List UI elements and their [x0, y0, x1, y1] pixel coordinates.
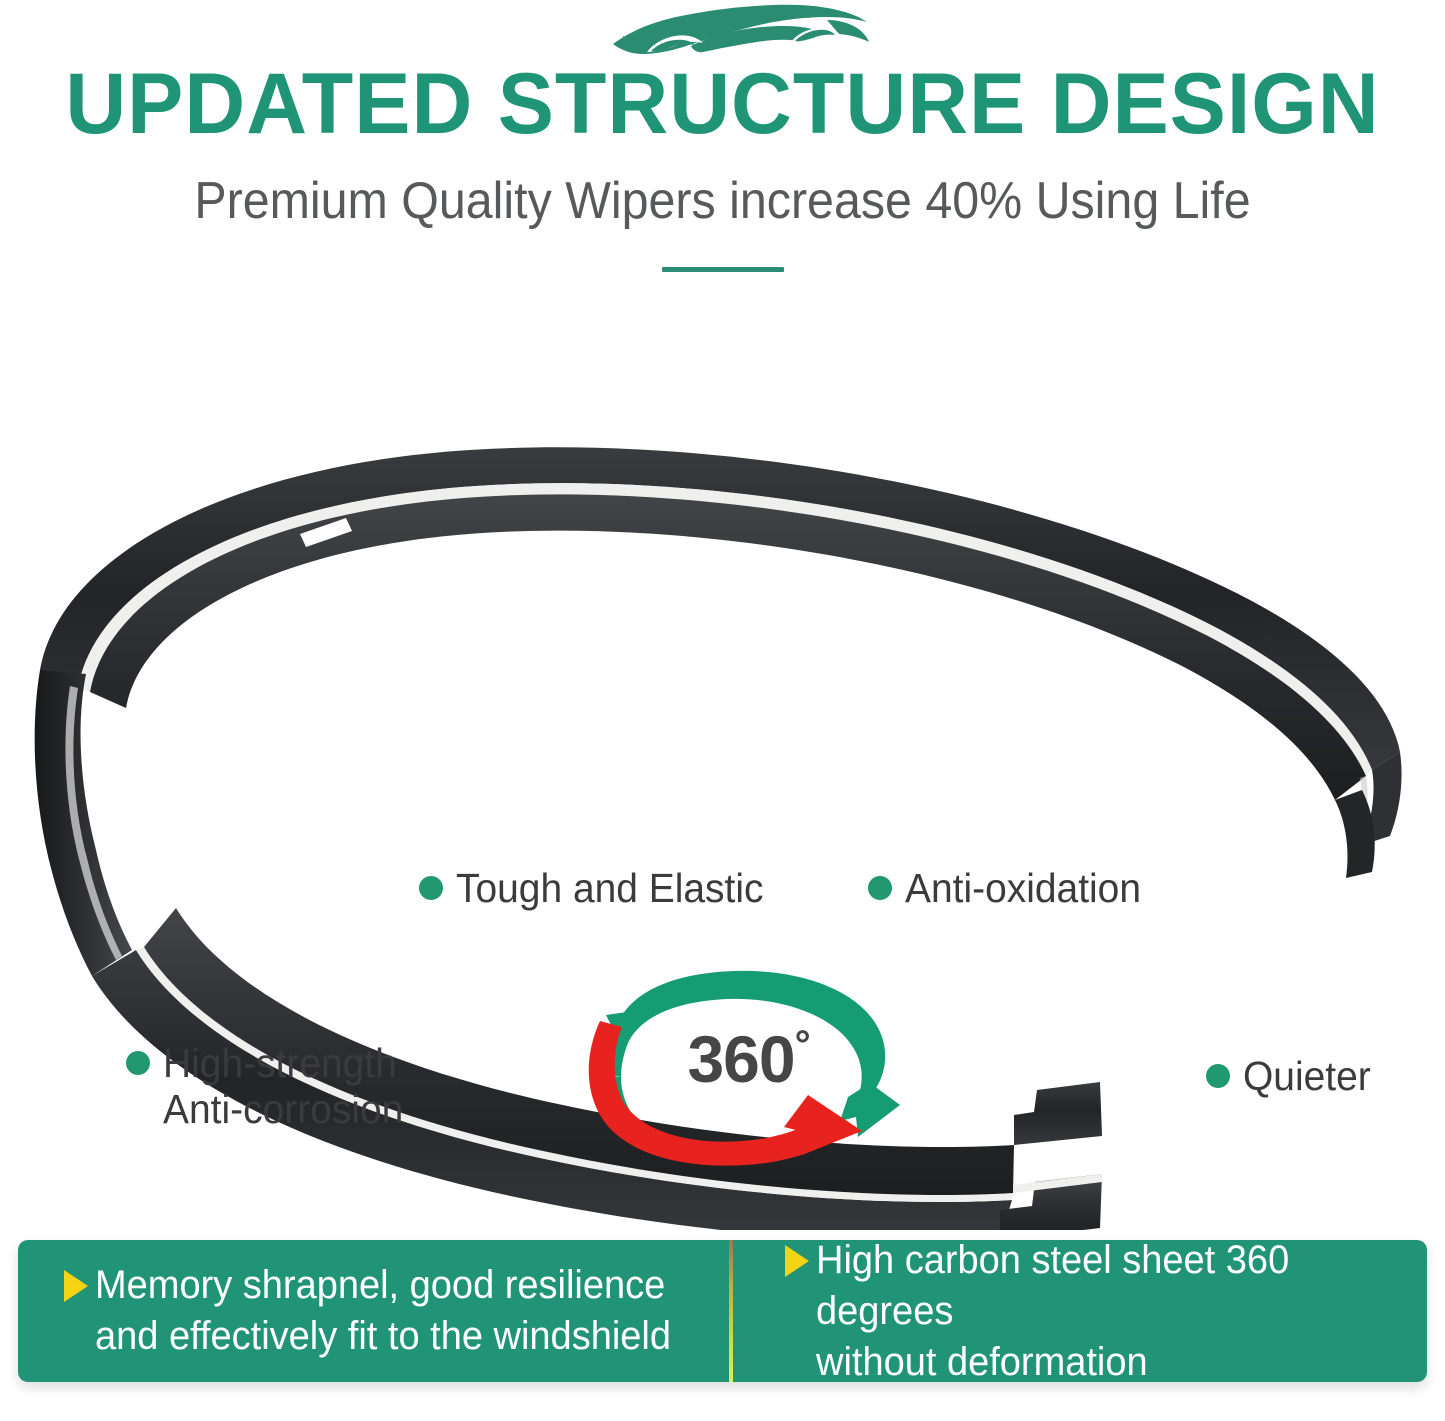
- page-subtitle: Premium Quality Wipers increase 40% Usin…: [51, 170, 1395, 232]
- feature-banner-item-left: Memory shrapnel, good resilience and eff…: [18, 1240, 723, 1382]
- callout-bullet-dot: [868, 876, 892, 900]
- triangle-bullet-icon: [64, 1270, 88, 1302]
- feature-banner: Memory shrapnel, good resilience and eff…: [18, 1240, 1427, 1382]
- blade-right-end-upper: [1014, 1082, 1102, 1145]
- banner-divider: [729, 1240, 733, 1382]
- callout-bullet-dot: [419, 876, 443, 900]
- callout-bullet-dot: [1206, 1064, 1230, 1088]
- header: UPDATED STRUCTURE DESIGN Premium Quality…: [0, 0, 1445, 300]
- callout-label: Anti-oxidation: [905, 865, 1141, 911]
- green-rotation-arrow-icon: [604, 971, 900, 1137]
- callout-anti-oxidation: Anti-oxidation: [868, 865, 1153, 911]
- callout-bullet-dot: [126, 1051, 150, 1075]
- blade-left-fold: [35, 670, 132, 976]
- blade-right-tip-face: [1335, 790, 1375, 878]
- product-stage: Tough and Elastic Anti-oxidation High-st…: [0, 300, 1445, 1230]
- callout-tough-and-elastic: Tough and Elastic: [419, 865, 780, 911]
- callout-label: Quieter: [1243, 1053, 1371, 1099]
- callout-high-strength-anti-corrosion: High-strength Anti-corrosion: [126, 1040, 416, 1132]
- title-underline-rule: [662, 267, 784, 272]
- 360-degree-badge: 360°: [570, 955, 920, 1170]
- feature-banner-text: High carbon steel sheet 360 degrees with…: [816, 1235, 1397, 1388]
- blade-notch-upper-2: [286, 570, 338, 598]
- red-rotation-arrow-icon: [589, 1021, 862, 1166]
- callout-label: High-strength Anti-corrosion: [163, 1040, 403, 1132]
- page-title: UPDATED STRUCTURE DESIGN: [14, 56, 1430, 152]
- callout-label: Tough and Elastic: [456, 865, 763, 911]
- blade-upper-front-face: [90, 494, 1366, 800]
- car-silhouette-icon: [595, 2, 875, 54]
- callout-quieter: Quieter: [1206, 1053, 1377, 1099]
- feature-banner-text: Memory shrapnel, good resilience and eff…: [95, 1260, 671, 1362]
- triangle-bullet-icon: [785, 1245, 809, 1277]
- feature-banner-item-right: High carbon steel sheet 360 degrees with…: [723, 1240, 1428, 1382]
